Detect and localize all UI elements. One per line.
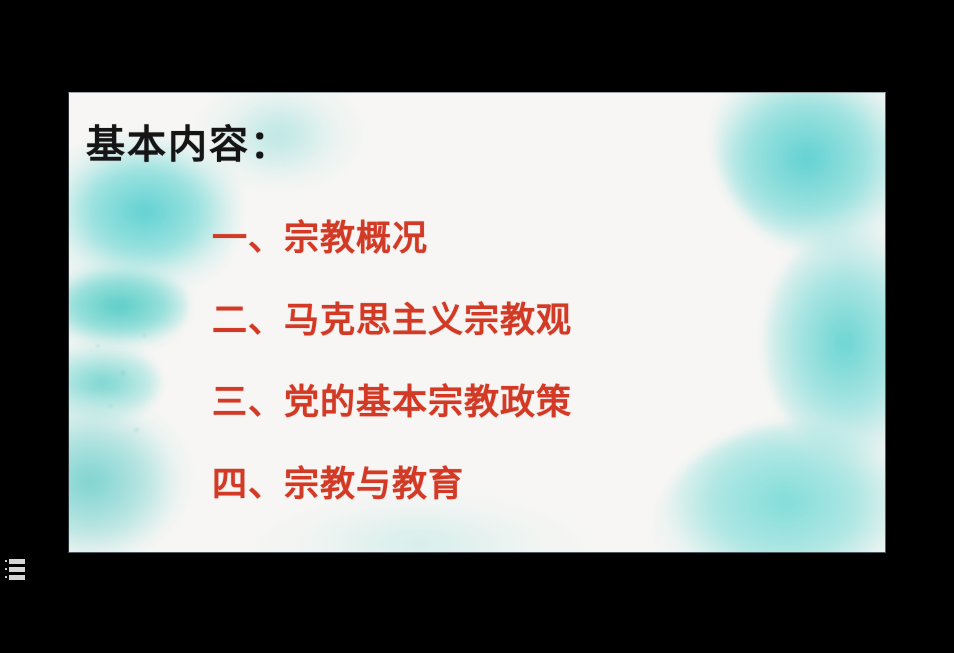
slide-outline-list: 一、 宗教概况 二、 马克思主义宗教观 三、 党的基本宗教政策 四、 宗教与教育 [212, 210, 572, 538]
presentation-slide[interactable]: 基本内容： 一、 宗教概况 二、 马克思主义宗教观 三、 党的基本宗教政策 四、… [68, 92, 886, 553]
list-view-icon-row [5, 558, 25, 564]
list-item: 四、 宗教与教育 [212, 456, 572, 538]
slide-content: 基本内容： 一、 宗教概况 二、 马克思主义宗教观 三、 党的基本宗教政策 四、… [69, 93, 885, 552]
list-view-icon-bar [9, 559, 25, 564]
list-view-icon-row [5, 566, 25, 572]
list-item-marker: 一、 [212, 210, 284, 261]
list-item-marker: 三、 [212, 374, 284, 425]
list-view-icon-dot [5, 568, 7, 570]
list-item-marker: 四、 [212, 456, 284, 507]
list-view-icon-row [5, 574, 25, 580]
list-item-label: 宗教概况 [284, 210, 428, 261]
list-item: 三、 党的基本宗教政策 [212, 374, 572, 456]
list-item-label: 马克思主义宗教观 [284, 292, 572, 343]
list-item-label: 党的基本宗教政策 [284, 374, 572, 425]
list-view-icon-dot [5, 560, 7, 562]
list-view-icon[interactable] [5, 558, 25, 580]
list-view-icon-dot [5, 576, 7, 578]
list-view-icon-bar [9, 567, 25, 572]
list-item: 二、 马克思主义宗教观 [212, 292, 572, 374]
list-item-marker: 二、 [212, 292, 284, 343]
list-item-label: 宗教与教育 [284, 456, 464, 507]
slide-heading: 基本内容： [86, 126, 291, 165]
video-player-surface[interactable]: 基本内容： 一、 宗教概况 二、 马克思主义宗教观 三、 党的基本宗教政策 四、… [0, 0, 954, 653]
list-item: 一、 宗教概况 [212, 210, 572, 292]
list-view-icon-bar [9, 575, 25, 580]
